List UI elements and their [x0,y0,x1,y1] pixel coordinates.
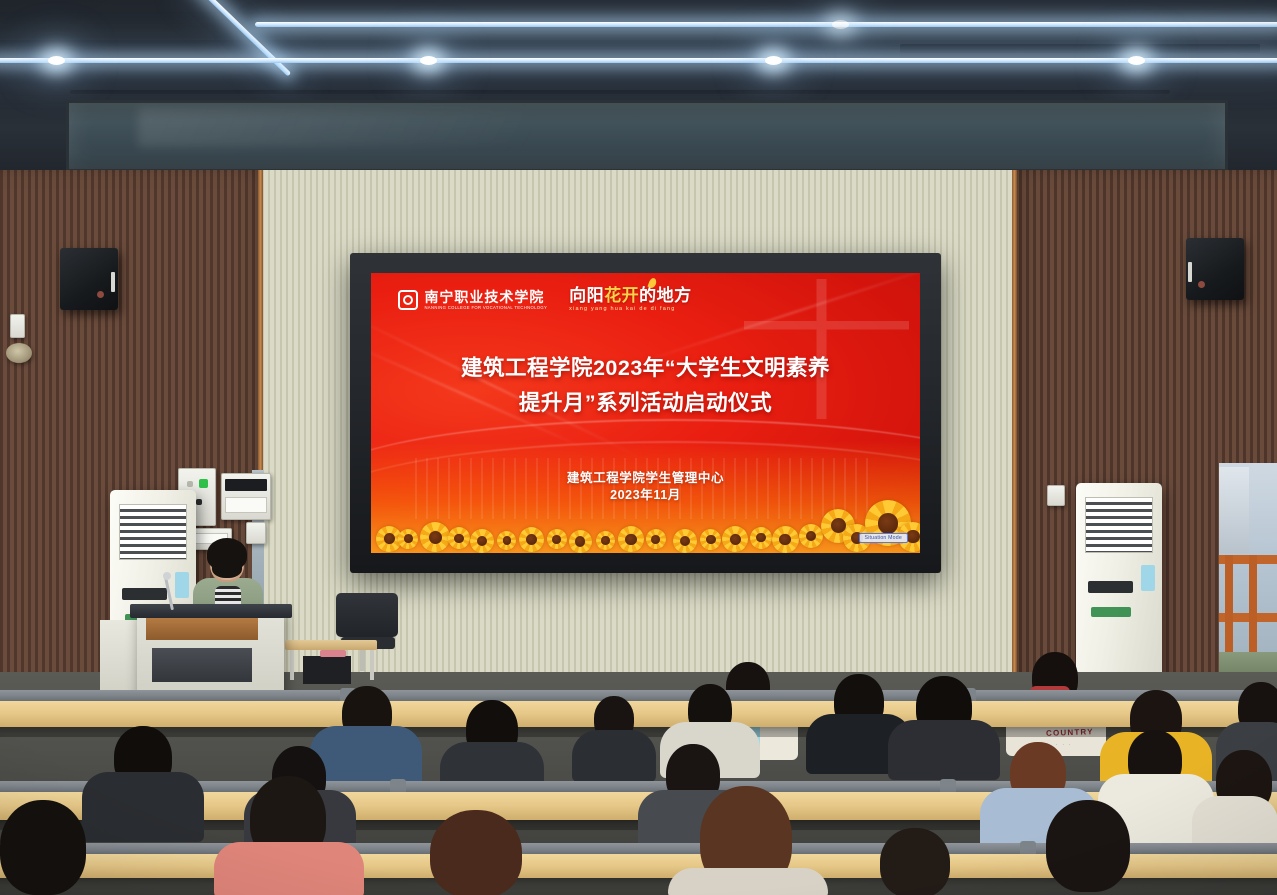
slogan-part-2: 的地方 [639,286,692,305]
exterior-window [1219,463,1277,678]
ceiling-light-dot [832,20,849,29]
logo-name-cn: 南宁职业技术学院 [424,290,547,304]
ceiling-light-dot [48,56,65,65]
desk-row [0,701,1277,727]
office-chair[interactable] [336,593,398,637]
sunflower-border [371,480,920,553]
audience-body [214,842,364,895]
audience-body [310,726,422,788]
office-chair-leg [360,649,365,671]
ceiling-light-dot [1128,56,1145,65]
wall-speaker-icon [60,248,118,310]
ceiling-beam [70,90,1170,94]
hoodie-subtext: · · · [1056,742,1072,747]
round-vent-icon [6,343,32,363]
storage-box [303,656,351,684]
auditorium-scene: 南宁职业技术学院 NANNING COLLEGE FOR VOCATIONAL … [0,0,1277,895]
audience-body [572,730,656,782]
wall-speaker-icon [1186,238,1244,300]
podium-side [100,620,142,692]
screen-header: 南宁职业技术学院 NANNING COLLEGE FOR VOCATIONAL … [398,287,892,313]
wall-edge-trim [1012,170,1017,690]
control-room-window [66,100,1228,172]
slogan-pinyin: xiang yang hua kai de di fang [569,307,675,313]
floor-standing-ac-right [1076,483,1162,683]
event-title-line2: 提升月”系列活动启动仪式 [393,386,898,421]
led-display-bezel: 南宁职业技术学院 NANNING COLLEGE FOR VOCATIONAL … [350,253,941,573]
audience-body [82,772,204,842]
intercom-plate[interactable] [221,473,271,520]
podium-top-surface [130,604,292,618]
audience-head [430,810,522,895]
thermostat-plate[interactable] [10,314,25,338]
podium-front-panel [152,648,252,682]
college-logo: 南宁职业技术学院 NANNING COLLEGE FOR VOCATIONAL … [398,290,547,310]
slogan-part-1: 向阳 [569,286,604,305]
ceiling-light-dot [420,56,437,65]
switch-plate[interactable] [246,522,266,544]
campaign-slogan: 向阳花开的地方 xiang yang hua kai de di fang [569,287,692,313]
ceiling-led-strip [255,22,1277,27]
microphone-icon [163,572,171,580]
event-title-line1: 建筑工程学院2023年“大学生文明素养 [393,351,898,386]
ncvt-monogram-icon [398,290,418,310]
presenter-hair [207,538,247,570]
thermostat-plate[interactable] [1047,485,1065,506]
audience-body [888,720,1000,780]
pink-item [320,650,346,657]
slogan-highlight: 花开 [604,286,639,305]
ceiling-beam [900,44,1260,53]
logo-name-en: NANNING COLLEGE FOR VOCATIONAL TECHNOLOG… [424,306,547,310]
desk-rail [0,690,1277,701]
audience-head [880,828,950,895]
podium-wood-face [146,618,258,640]
ceiling-light-dot [765,56,782,65]
audience-body [668,868,828,895]
audience-head [1046,800,1130,892]
led-display-content: 南宁职业技术学院 NANNING COLLEGE FOR VOCATIONAL … [371,273,920,553]
status-badge: Situation Mode [859,533,908,543]
ceiling-led-strip [0,58,1277,63]
side-table [285,640,377,650]
audience-head [0,800,86,895]
event-title: 建筑工程学院2023年“大学生文明素养 提升月”系列活动启动仪式 [393,351,898,421]
